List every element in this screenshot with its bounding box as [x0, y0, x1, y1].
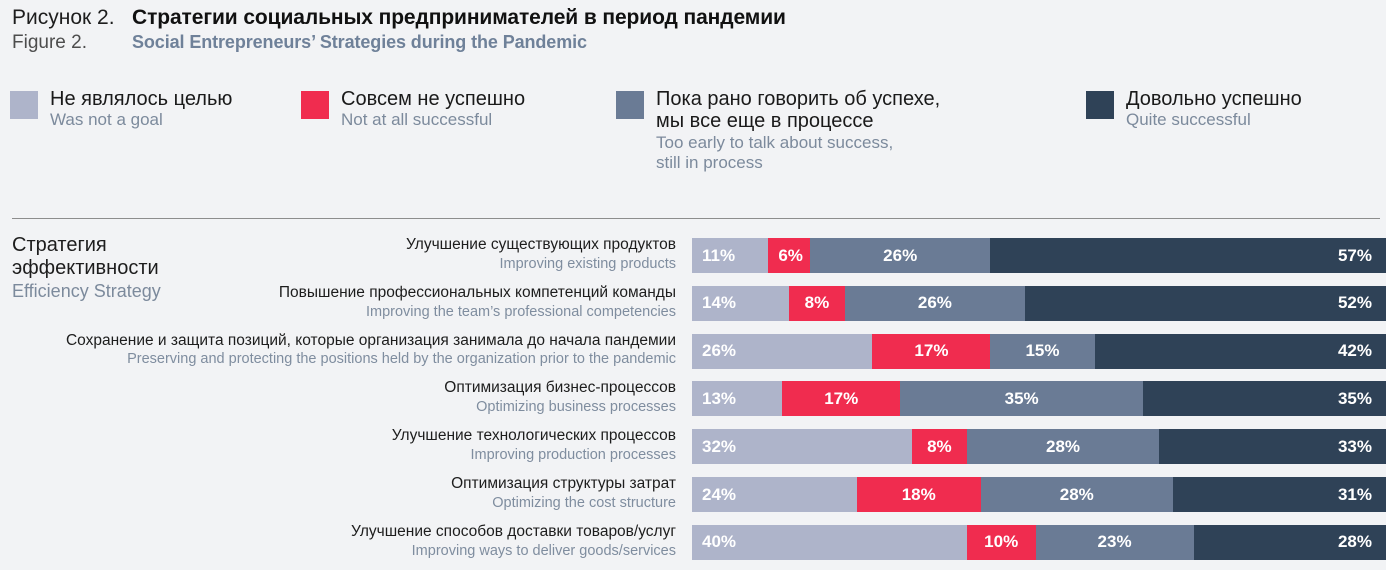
legend-label-ru: Совсем не успешно	[341, 88, 525, 110]
chart-row: Улучшение технологических процессовImpro…	[0, 429, 1386, 466]
row-label-en: Improving ways to deliver goods/services	[10, 542, 676, 561]
chart-row: Улучшение способов доставки товаров/услу…	[0, 525, 1386, 562]
bar-segment: 26%	[810, 238, 990, 273]
stacked-bar: 14%8%26%52%	[692, 286, 1386, 321]
bar-segment-value: 8%	[805, 293, 830, 313]
row-label-en: Improving production processes	[10, 446, 676, 465]
row-label-block: Улучшение существующих продуктовImprovin…	[10, 235, 676, 273]
bar-segment-value: 42%	[1338, 341, 1372, 361]
legend-item-too-early: Пока рано говорить об успехе, мы все еще…	[616, 88, 940, 173]
stacked-bar: 11%6%26%57%	[692, 238, 1386, 273]
bar-segment: 31%	[1173, 477, 1386, 512]
bar-segment: 35%	[1143, 381, 1386, 416]
row-label-en: Optimizing business processes	[10, 398, 676, 417]
bar-segment: 32%	[692, 429, 912, 464]
title-line-en: Figure 2. Social Entrepreneurs’ Strategi…	[12, 32, 1372, 54]
row-label-ru: Повышение профессиональных компетенций к…	[10, 283, 676, 303]
bar-segment-value: 13%	[702, 389, 736, 409]
row-label-en: Improving the team’s professional compet…	[10, 303, 676, 322]
bar-segment-value: 32%	[702, 437, 736, 457]
legend-label-en: Not at all successful	[341, 110, 492, 129]
row-label-en: Preserving and protecting the positions …	[10, 350, 676, 369]
page-title: Стратегии социальных предпринимателей в …	[132, 6, 786, 30]
bar-segment-value: 28%	[1060, 485, 1094, 505]
bar-segment-value: 17%	[824, 389, 858, 409]
bar-segment-value: 52%	[1338, 293, 1372, 313]
bar-segment: 42%	[1095, 334, 1386, 369]
bar-segment: 14%	[692, 286, 789, 321]
bar-segment-value: 24%	[702, 485, 736, 505]
bar-segment: 40%	[692, 525, 967, 560]
legend-label-ru: Пока рано говорить об успехе, мы все еще…	[656, 88, 940, 132]
bar-segment: 8%	[789, 286, 845, 321]
row-label-block: Оптимизация бизнес-процессовOptimizing b…	[10, 378, 676, 416]
bar-segment-value: 26%	[702, 341, 736, 361]
figure-number-ru: Рисунок 2.	[12, 6, 132, 30]
bar-segment: 24%	[692, 477, 857, 512]
bar-segment-value: 6%	[778, 246, 803, 266]
stacked-bar: 24%18%28%31%	[692, 477, 1386, 512]
bar-segment: 23%	[1036, 525, 1194, 560]
chart-row: Повышение профессиональных компетенций к…	[0, 286, 1386, 323]
legend-item-quite-successful: Довольно успешно Quite successful	[1086, 88, 1302, 130]
bar-segment-value: 31%	[1338, 485, 1372, 505]
chart-row: Улучшение существующих продуктовImprovin…	[0, 238, 1386, 275]
bar-segment: 28%	[1194, 525, 1386, 560]
row-label-ru: Улучшение технологических процессов	[10, 426, 676, 446]
row-label-block: Улучшение способов доставки товаров/услу…	[10, 522, 676, 560]
bar-segment: 57%	[990, 238, 1386, 273]
chart-row: Оптимизация структуры затратOptimizing t…	[0, 477, 1386, 514]
row-label-block: Повышение профессиональных компетенций к…	[10, 283, 676, 321]
row-label-en: Improving existing products	[10, 255, 676, 274]
bar-segment: 28%	[967, 429, 1159, 464]
bar-segment-value: 14%	[702, 293, 736, 313]
bar-segment: 13%	[692, 381, 782, 416]
bar-segment-value: 17%	[914, 341, 948, 361]
row-label-ru: Сохранение и защита позиций, которые орг…	[10, 331, 676, 351]
bar-segment: 11%	[692, 238, 768, 273]
bar-segment-value: 57%	[1338, 246, 1372, 266]
row-label-block: Сохранение и защита позиций, которые орг…	[10, 331, 676, 369]
header-divider	[12, 218, 1380, 219]
legend-item-was-not-a-goal: Не являлось целью Was not a goal	[10, 88, 232, 130]
bar-segment: 10%	[967, 525, 1036, 560]
row-label-ru: Улучшение способов доставки товаров/услу…	[10, 522, 676, 542]
bar-segment: 26%	[692, 334, 872, 369]
legend-label-en: Too early to talk about success, still i…	[656, 133, 893, 172]
bar-segment: 33%	[1159, 429, 1386, 464]
bar-segment-value: 11%	[702, 246, 735, 266]
bar-segment: 17%	[872, 334, 990, 369]
bar-segment: 26%	[845, 286, 1025, 321]
stacked-bar: 13%17%35%35%	[692, 381, 1386, 416]
chart-legend: Не являлось целью Was not a goal Совсем …	[0, 88, 1386, 198]
bar-segment-value: 8%	[927, 437, 952, 457]
bar-segment: 18%	[857, 477, 981, 512]
legend-label-en: Quite successful	[1126, 110, 1251, 129]
bar-segment-value: 40%	[702, 532, 736, 552]
title-line-ru: Рисунок 2. Стратегии социальных предприн…	[12, 6, 1372, 30]
stacked-bar: 40%10%23%28%	[692, 525, 1386, 560]
stacked-bar: 26%17%15%42%	[692, 334, 1386, 369]
chart-row: Оптимизация бизнес-процессовOptimizing b…	[0, 381, 1386, 418]
legend-swatch-not-at-all-successful	[301, 91, 329, 119]
bar-segment-value: 26%	[883, 246, 917, 266]
bar-segment: 52%	[1025, 286, 1386, 321]
row-label-ru: Улучшение существующих продуктов	[10, 235, 676, 255]
bar-segment-value: 10%	[984, 532, 1018, 552]
bar-segment: 28%	[981, 477, 1173, 512]
legend-label-ru: Не являлось целью	[50, 88, 232, 110]
row-label-en: Optimizing the cost structure	[10, 494, 676, 513]
bar-segment-value: 28%	[1338, 532, 1372, 552]
legend-label-ru: Довольно успешно	[1126, 88, 1302, 110]
bar-segment-value: 23%	[1098, 532, 1132, 552]
legend-item-not-at-all-successful: Совсем не успешно Not at all successful	[301, 88, 525, 130]
row-label-ru: Оптимизация структуры затрат	[10, 474, 676, 494]
bar-segment-value: 15%	[1025, 341, 1059, 361]
legend-swatch-quite-successful	[1086, 91, 1114, 119]
chart-row: Сохранение и защита позиций, которые орг…	[0, 334, 1386, 371]
bar-segment: 35%	[900, 381, 1143, 416]
row-label-block: Оптимизация структуры затратOptimizing t…	[10, 474, 676, 512]
page-subtitle: Social Entrepreneurs’ Strategies during …	[132, 32, 587, 53]
legend-swatch-too-early	[616, 91, 644, 119]
bar-segment-value: 26%	[918, 293, 952, 313]
figure-number-en: Figure 2.	[12, 32, 132, 54]
legend-label-en: Was not a goal	[50, 110, 163, 129]
legend-swatch-was-not-a-goal	[10, 91, 38, 119]
bar-segment-value: 35%	[1338, 389, 1372, 409]
row-label-block: Улучшение технологических процессовImpro…	[10, 426, 676, 464]
bar-segment-value: 28%	[1046, 437, 1080, 457]
bar-segment-value: 18%	[902, 485, 936, 505]
row-label-ru: Оптимизация бизнес-процессов	[10, 378, 676, 398]
bar-segment-value: 33%	[1338, 437, 1372, 457]
bar-segment-value: 35%	[1005, 389, 1039, 409]
figure-title-block: Рисунок 2. Стратегии социальных предприн…	[12, 6, 1372, 54]
stacked-bar: 32%8%28%33%	[692, 429, 1386, 464]
bar-segment: 17%	[782, 381, 900, 416]
bar-segment: 6%	[768, 238, 810, 273]
bar-segment: 8%	[912, 429, 967, 464]
bar-segment: 15%	[990, 334, 1094, 369]
